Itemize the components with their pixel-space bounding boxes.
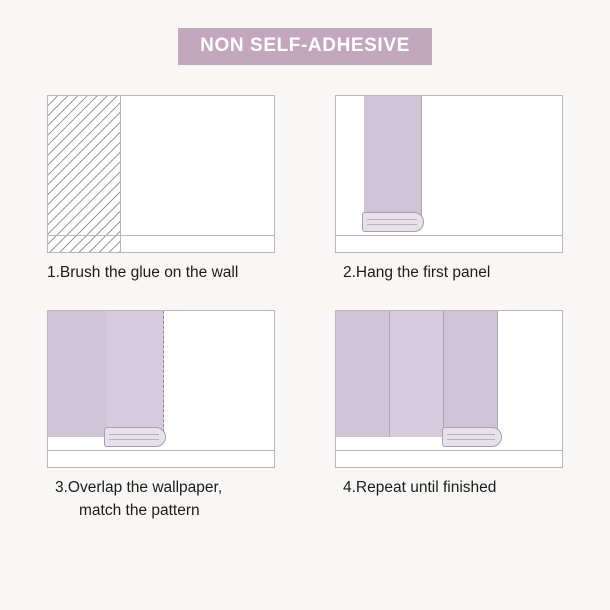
floor-line: [48, 450, 274, 451]
steps-row-2: 3.Overlap the wallpaper, match the patte…: [0, 310, 610, 522]
step-1-illustration: [47, 95, 275, 253]
wallpaper-strip-1: [48, 311, 106, 437]
wallpaper-curl-1: [362, 212, 424, 232]
step-1-caption: 1.Brush the glue on the wall: [47, 262, 275, 284]
step-3-caption-line2: match the pattern: [55, 500, 275, 522]
steps-row-1: 1.Brush the glue on the wall 2.Hang the …: [0, 95, 610, 284]
wallpaper-strip-2: [390, 311, 444, 437]
step-2-caption: 2.Hang the first panel: [335, 262, 563, 284]
step-1: 1.Brush the glue on the wall: [47, 95, 275, 284]
step-4-illustration: [335, 310, 563, 468]
wallpaper-strip-1: [336, 311, 390, 437]
glue-hatch-area: [48, 96, 121, 252]
step-3-caption-line1: 3.Overlap the wallpaper,: [55, 479, 222, 496]
floor-line: [336, 450, 562, 451]
step-2: 2.Hang the first panel: [335, 95, 563, 284]
steps-grid: 1.Brush the glue on the wall 2.Hang the …: [0, 95, 610, 522]
wallpaper-curl-2: [104, 427, 166, 447]
page-title: NON SELF-ADHESIVE: [200, 35, 410, 57]
wallpaper-strip-1: [364, 96, 422, 222]
header: NON SELF-ADHESIVE: [0, 28, 610, 65]
wallpaper-strip-3: [444, 311, 498, 437]
floor-line: [48, 235, 274, 236]
floor-line: [336, 235, 562, 236]
wallpaper-curl-3: [442, 427, 502, 447]
step-3-illustration: [47, 310, 275, 468]
step-3-caption: 3.Overlap the wallpaper, match the patte…: [47, 477, 275, 522]
step-2-illustration: [335, 95, 563, 253]
wallpaper-strip-2: [106, 311, 164, 437]
step-4: 4.Repeat until finished: [335, 310, 563, 522]
step-4-caption: 4.Repeat until finished: [335, 477, 563, 499]
step-3: 3.Overlap the wallpaper, match the patte…: [47, 310, 275, 522]
title-band: NON SELF-ADHESIVE: [178, 28, 432, 65]
